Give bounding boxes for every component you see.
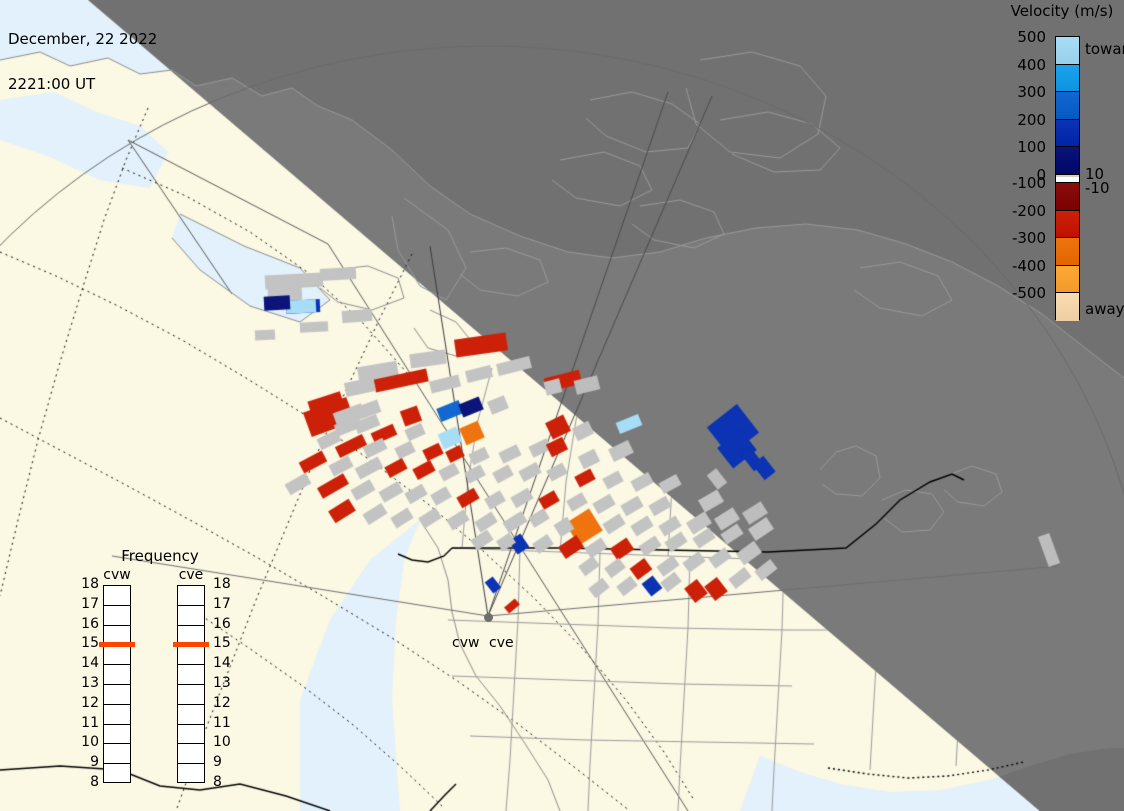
velocity-band--500 [1056, 293, 1079, 321]
timestamp: December, 22 2022 2221:00 UT [8, 2, 157, 122]
frequency-segment [178, 606, 204, 626]
velocity-band-0 [1056, 175, 1079, 183]
frequency-tick-8: 8 [213, 774, 235, 790]
frequency-scale-name: cve [168, 567, 214, 583]
velocity-tick-500: 500 [1017, 28, 1046, 46]
frequency-tick-18: 18 [77, 576, 99, 592]
velocity-tick-400: 400 [1017, 56, 1046, 74]
site-label-cve: cve [489, 635, 514, 651]
timestamp-date: December, 22 2022 [8, 32, 157, 47]
frequency-segment [178, 665, 204, 685]
frequency-tick-12: 12 [77, 695, 99, 711]
velocity-tick--100: -100 [1012, 174, 1046, 192]
velocity-band-400 [1056, 65, 1079, 93]
frequency-tick-9: 9 [213, 754, 235, 770]
velocity-tick--200: -200 [1012, 202, 1046, 220]
radar-site-marker [484, 613, 493, 622]
velocity-band-200 [1056, 120, 1079, 148]
frequency-bar [177, 585, 205, 783]
frequency-segment [104, 725, 130, 745]
velocity-colorbar [1055, 36, 1080, 320]
velocity-tick-300: 300 [1017, 83, 1046, 101]
frequency-tick-8: 8 [77, 774, 99, 790]
frequency-tick-12: 12 [213, 695, 235, 711]
frequency-tick-17: 17 [213, 596, 235, 612]
velocity-tick--500: -500 [1012, 284, 1046, 302]
radar-map-figure: December, 22 2022 2221:00 UT Velocity (m… [0, 0, 1124, 811]
away-label: away [1085, 300, 1124, 318]
frequency-segment [104, 645, 130, 665]
frequency-segment [178, 705, 204, 725]
frequency-segment [178, 764, 204, 784]
frequency-tick-17: 17 [77, 596, 99, 612]
frequency-legend: Frequency cvw18171615141312111098cve1817… [85, 545, 235, 785]
frequency-tick-18: 18 [213, 576, 235, 592]
frequency-segment [104, 665, 130, 685]
frequency-tick-16: 16 [213, 616, 235, 632]
frequency-legend-title: Frequency [85, 547, 235, 565]
frequency-bar [103, 585, 131, 783]
frequency-tick-15: 15 [77, 635, 99, 651]
velocity-tick-100: 100 [1017, 138, 1046, 156]
frequency-segment [178, 685, 204, 705]
frequency-segment [104, 606, 130, 626]
frequency-tick-13: 13 [213, 675, 235, 691]
frequency-tick-15: 15 [213, 635, 235, 651]
frequency-tick-14: 14 [213, 655, 235, 671]
site-label-cvw: cvw [452, 635, 479, 651]
velocity-legend: Velocity (m/s) 5004003002001000-100-200-… [985, 0, 1124, 330]
timestamp-time: 2221:00 UT [8, 77, 157, 92]
frequency-tick-11: 11 [77, 715, 99, 731]
velocity-band--400 [1056, 266, 1079, 294]
velocity-band--300 [1056, 238, 1079, 266]
toward-label: toward [1085, 40, 1124, 58]
frequency-segment [178, 725, 204, 745]
frequency-segment [104, 764, 130, 784]
frequency-segment [178, 744, 204, 764]
frequency-segment [178, 645, 204, 665]
frequency-segment [104, 705, 130, 725]
frequency-tick-16: 16 [77, 616, 99, 632]
velocity-tick-200: 200 [1017, 111, 1046, 129]
velocity-tick--400: -400 [1012, 257, 1046, 275]
frequency-segment [178, 586, 204, 606]
frequency-tick-13: 13 [77, 675, 99, 691]
velocity-legend-title: Velocity (m/s) [1000, 2, 1124, 20]
frequency-marker-cve [173, 642, 209, 647]
frequency-segment [104, 685, 130, 705]
frequency-segment [104, 744, 130, 764]
frequency-tick-9: 9 [77, 754, 99, 770]
frequency-tick-10: 10 [213, 734, 235, 750]
frequency-tick-10: 10 [77, 734, 99, 750]
frequency-scale-name: cvw [94, 567, 140, 583]
frequency-marker-cvw [99, 642, 135, 647]
velocity-band--200 [1056, 211, 1079, 239]
negative-threshold-label: -10 [1085, 179, 1110, 197]
frequency-tick-11: 11 [213, 715, 235, 731]
velocity-band-100 [1056, 147, 1079, 175]
velocity-band-300 [1056, 92, 1079, 120]
frequency-tick-14: 14 [77, 655, 99, 671]
velocity-tick--300: -300 [1012, 229, 1046, 247]
velocity-band--100 [1056, 183, 1079, 211]
frequency-segment [104, 586, 130, 606]
velocity-band-500 [1056, 37, 1079, 65]
